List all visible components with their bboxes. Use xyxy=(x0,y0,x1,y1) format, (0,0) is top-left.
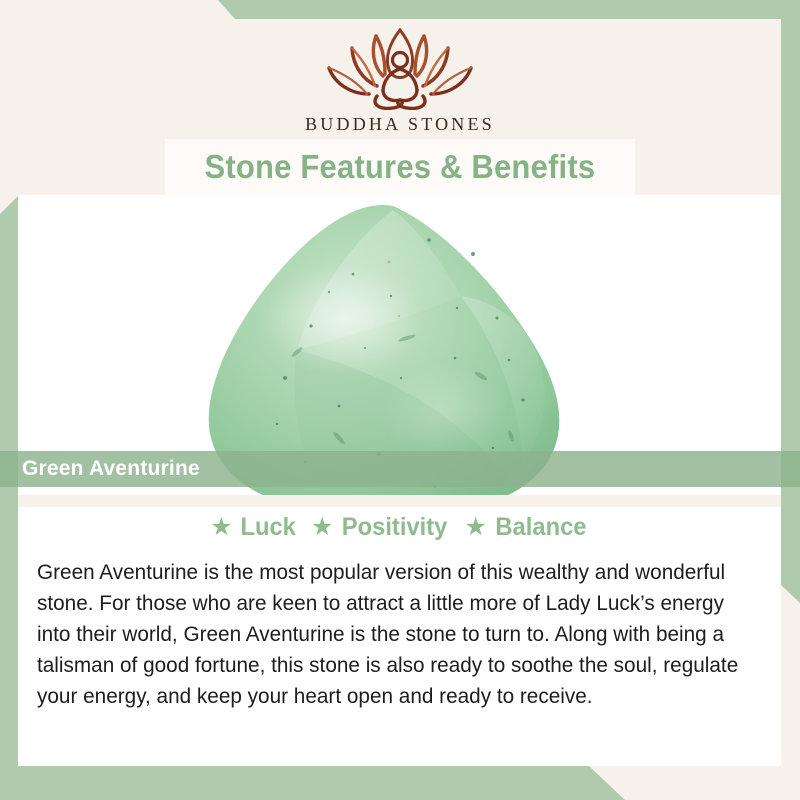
star-icon: ★ xyxy=(311,515,333,540)
content-panel: ★ Luck ★ Positivity ★ Balance Green Aven… xyxy=(18,495,781,766)
page-title: Stone Features & Benefits xyxy=(205,148,596,186)
benefit-label: Positivity xyxy=(342,513,448,542)
title-banner: Stone Features & Benefits xyxy=(165,139,635,195)
frame-bottom-band xyxy=(0,766,625,800)
stone-name: Green Aventurine xyxy=(22,457,200,481)
content-top-tint xyxy=(18,495,781,507)
brand-logo: BUDDHA STONES xyxy=(0,18,800,135)
lotus-meditation-icon xyxy=(305,18,495,110)
stone-description: Green Aventurine is the most popular ver… xyxy=(37,557,741,712)
star-icon: ★ xyxy=(465,515,487,540)
frame-right-lower-strip xyxy=(781,118,800,603)
star-icon: ★ xyxy=(210,515,232,540)
brand-name: BUDDHA STONES xyxy=(0,114,800,135)
benefit-label: Balance xyxy=(495,513,586,542)
benefit-label: Luck xyxy=(240,513,295,542)
stone-name-bar: Green Aventurine xyxy=(0,451,800,487)
brand-header: BUDDHA STONES xyxy=(0,0,800,148)
benefit-item: ★ Luck xyxy=(210,513,297,542)
benefit-item: ★ Balance xyxy=(465,513,589,542)
benefits-row: ★ Luck ★ Positivity ★ Balance xyxy=(18,513,781,542)
stone-photo xyxy=(18,195,781,495)
poster-canvas: BUDDHA STONES Stone Features & Benefits xyxy=(0,0,800,800)
benefit-item: ★ Positivity xyxy=(311,513,451,542)
